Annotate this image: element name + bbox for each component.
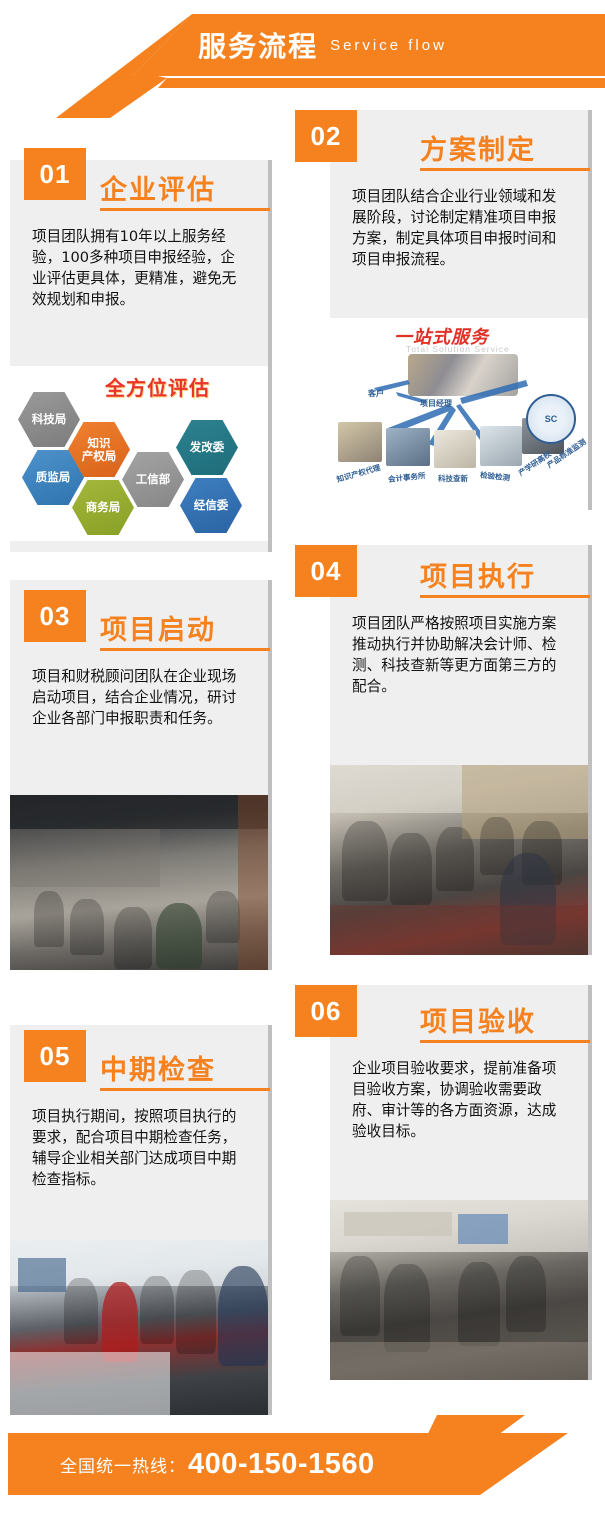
- step-title: 中期检查: [100, 1048, 216, 1087]
- hotline-number[interactable]: 400-150-1560: [188, 1448, 375, 1481]
- service-leaf-novelty: 科技查新: [438, 473, 468, 484]
- service-diagram: 一站式服务 Total Solution Service 客户 项目经理 SC …: [330, 318, 588, 510]
- page-footer: 全国统一热线： 400-150-1560: [0, 1415, 605, 1520]
- photo-overlay-03: [10, 795, 268, 970]
- footer-hotline-group: 全国统一热线： 400-150-1560: [8, 1433, 605, 1495]
- hex-node-keji-ju: 科技局: [18, 392, 80, 447]
- page-header: 服务流程 Service flow: [0, 0, 605, 118]
- step-number-badge: 03: [24, 590, 86, 642]
- step-number-badge: 06: [295, 985, 357, 1037]
- step-description: 项目团队拥有10年以上服务经验，100多种项目申报经验，企业评估更具体，更精准，…: [32, 226, 247, 310]
- service-thumb-inspection: [480, 426, 522, 466]
- hex-node-gongxin-bu: 工信部: [122, 452, 184, 507]
- header-accent-stripe: [0, 78, 605, 88]
- service-node-project-manager: 项目经理: [420, 398, 452, 409]
- service-node-customer: 客户: [368, 388, 384, 399]
- hex-node-shangwu-ju: 商务局: [72, 480, 134, 535]
- title-underline: [100, 648, 270, 651]
- step-photo-03: [10, 795, 268, 970]
- service-flow-poster: 服务流程 Service flow 01 企业评估 项目团队拥有10年以上服务经…: [0, 0, 605, 1538]
- hexagon-infographic-title: 全方位评估: [105, 372, 210, 401]
- step-description: 项目执行期间，按照项目执行的要求，配合项目中期检查任务，辅导企业相关部门达成项目…: [32, 1106, 247, 1190]
- hotline-label: 全国统一热线：: [60, 1452, 186, 1477]
- step-number-badge: 02: [295, 110, 357, 162]
- photo-overlay-06: [330, 1200, 588, 1380]
- step-description: 项目团队结合企业行业领域和发展阶段，讨论制定精准项目申报方案，制定具体项目申报时…: [352, 186, 567, 270]
- page-subtitle: Service flow: [330, 37, 447, 54]
- header-title-group: 服务流程 Service flow: [0, 14, 605, 76]
- service-thumb-accounting: [386, 428, 430, 466]
- step-number-badge: 04: [295, 545, 357, 597]
- step-title: 项目启动: [100, 608, 216, 647]
- step-description: 企业项目验收要求，提前准备项目验收方案，协调验收需要政府、审计等的各方面资源，达…: [352, 1058, 567, 1142]
- service-standard-seal: SC: [526, 394, 576, 444]
- step-description: 项目和财税顾问团队在企业现场启动项目，结合企业情况，研讨企业各部门申报职责和任务…: [32, 666, 247, 729]
- step-title: 项目验收: [420, 1000, 536, 1039]
- hex-node-jingxin-wei: 经信委: [180, 478, 242, 533]
- step-title: 企业评估: [100, 168, 216, 207]
- step-photo-06: [330, 1200, 588, 1380]
- step-photo-05: [10, 1240, 268, 1415]
- photo-overlay-05: [10, 1240, 268, 1415]
- page-title: 服务流程: [198, 25, 318, 65]
- title-underline: [420, 595, 590, 598]
- hexagon-infographic: 全方位评估 科技局 知识产权局 质监局 工信部 商务局 发改委 经信委: [10, 366, 268, 541]
- title-underline: [420, 1040, 590, 1043]
- title-underline: [100, 1088, 270, 1091]
- service-thumb-ip: [338, 422, 382, 462]
- title-underline: [100, 208, 270, 211]
- step-title: 项目执行: [420, 555, 536, 594]
- service-thumb-novelty: [434, 430, 476, 468]
- step-number-badge: 01: [24, 148, 86, 200]
- step-number-badge: 05: [24, 1030, 86, 1082]
- title-underline: [420, 168, 590, 171]
- step-title: 方案制定: [420, 128, 536, 167]
- step-photo-04: [330, 765, 588, 955]
- step-description: 项目团队严格按照项目实施方案推动执行并协助解决会计师、检测、科技查新等更方面第三…: [352, 613, 567, 697]
- hex-node-fagai-wei: 发改委: [176, 420, 238, 475]
- photo-overlay-04: [330, 765, 588, 955]
